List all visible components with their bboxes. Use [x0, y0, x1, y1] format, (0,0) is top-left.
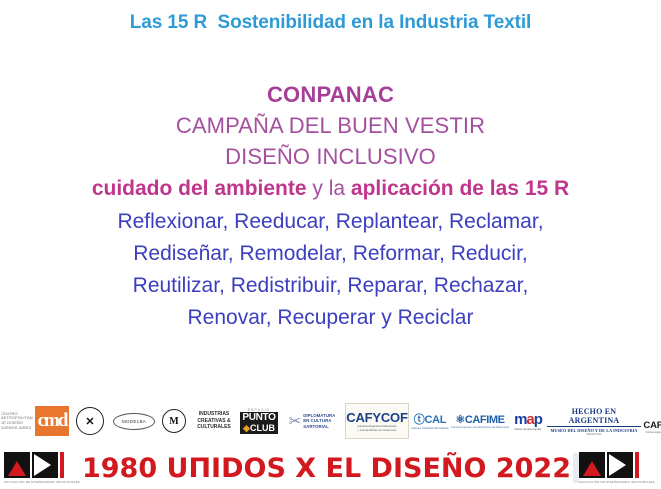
slide-title: Las 15 R Sostenibilidad en la Industria … — [0, 12, 661, 34]
adi-arrow-mark — [32, 452, 58, 478]
highlight-part-2: y la — [307, 177, 351, 200]
sponsor-logo-caprotex: 🌐 CAPROTEX Cámara Argentina de Productor… — [643, 400, 661, 442]
adi-triangle-mark — [4, 452, 30, 478]
r-list-line-1: Reflexionar, Reeducar, Replantear, Recla… — [0, 206, 661, 238]
organization-name: CONPANAC — [0, 80, 661, 110]
sponsor-logo-modelba: MODELBA — [111, 400, 157, 442]
sponsor-logo-strip: CENTROMETROPOLITANODE DISEÑOBUENOS AIRES… — [0, 396, 661, 446]
sponsor-logo-industrias-creativas: INDUSTRIASCREATIVAS &CULTURALES — [191, 400, 237, 442]
sponsor-logo-museo-monogram: M — [159, 400, 189, 442]
r-list-line-2: Rediseñar, Remodelar, Reformar, Reducir, — [0, 238, 661, 270]
adi-logo-right: ASOCIACIÓN DE DISEÑADORES INDUSTRIALES — [579, 452, 661, 484]
bottom-banner: ASOCIACIÓN DE DISEÑADORES INDUSTRIALES 1… — [0, 447, 661, 489]
campaign-line-1: CAMPAÑA DEL BUEN VESTIR — [0, 110, 661, 141]
slide-body: CONPANAC CAMPAÑA DEL BUEN VESTIR DISEÑO … — [0, 80, 661, 334]
sponsor-logo-centro-metropolitano-diseno: CENTROMETROPOLITANODE DISEÑOBUENOS AIRES — [1, 400, 33, 442]
adi-logo-left: ASOCIACIÓN DE DISEÑADORES INDUSTRIALES — [0, 452, 80, 484]
adi-logo-caption-right: ASOCIACIÓN DE DISEÑADORES INDUSTRIALES — [579, 480, 655, 484]
adi-red-bar — [635, 452, 639, 478]
sponsor-logo-cafycof: CAFYCOF Cámara Argentina Fabricantesy Co… — [345, 400, 409, 442]
globe-icon: 🌐 — [643, 408, 661, 420]
presentation-slide: Las 15 R Sostenibilidad en la Industria … — [0, 0, 661, 489]
sponsor-logo-hecho-en-argentina: HECHO EN ARGENTINA MUSEO DEL DISEÑO Y DE… — [547, 400, 641, 442]
campaign-line-2: DISEÑO INCLUSIVO — [0, 141, 661, 172]
adi-arrow-mark — [607, 452, 633, 478]
adi-red-bar — [60, 452, 64, 478]
r-list-line-4: Renovar, Recuperar y Reciclar — [0, 302, 661, 334]
adi-triangle-mark — [579, 452, 605, 478]
sponsor-logo-cafime: ⚛CAFIME Cámara Argentina de Fabricantes … — [451, 400, 509, 442]
sponsor-logo-cooperativa: ✕ — [71, 400, 109, 442]
highlight-line: cuidado del ambiente y la aplicación de … — [0, 172, 661, 206]
sponsor-logo-diplomatura-cultura-sartorial: ✂ DIPLOMATURAEN CULTURASARTORIAL — [281, 400, 343, 442]
sponsor-logo-cmd-square: cmd — [35, 400, 69, 442]
sponsor-logo-espacio-punto-club: ESPACIO PUNTO ◆CLUB — [239, 400, 279, 442]
scissors-icon: ✂ — [289, 412, 302, 430]
sponsor-logo-tecal: ⓣCAL Cámara Industrial del Calzado — [411, 400, 449, 442]
sponsor-logo-map: map Museo de arte popular — [511, 400, 545, 442]
r-list-line-3: Reutilizar, Redistribuir, Reparar, Recha… — [0, 270, 661, 302]
highlight-part-1: cuidado del ambiente — [92, 177, 307, 200]
banner-slogan: 1980 UΠIDOS X EL DISEÑO 2022 — [80, 453, 573, 484]
highlight-part-3: aplicación de las 15 R — [351, 177, 569, 200]
adi-logo-caption-left: ASOCIACIÓN DE DISEÑADORES INDUSTRIALES — [4, 480, 80, 484]
